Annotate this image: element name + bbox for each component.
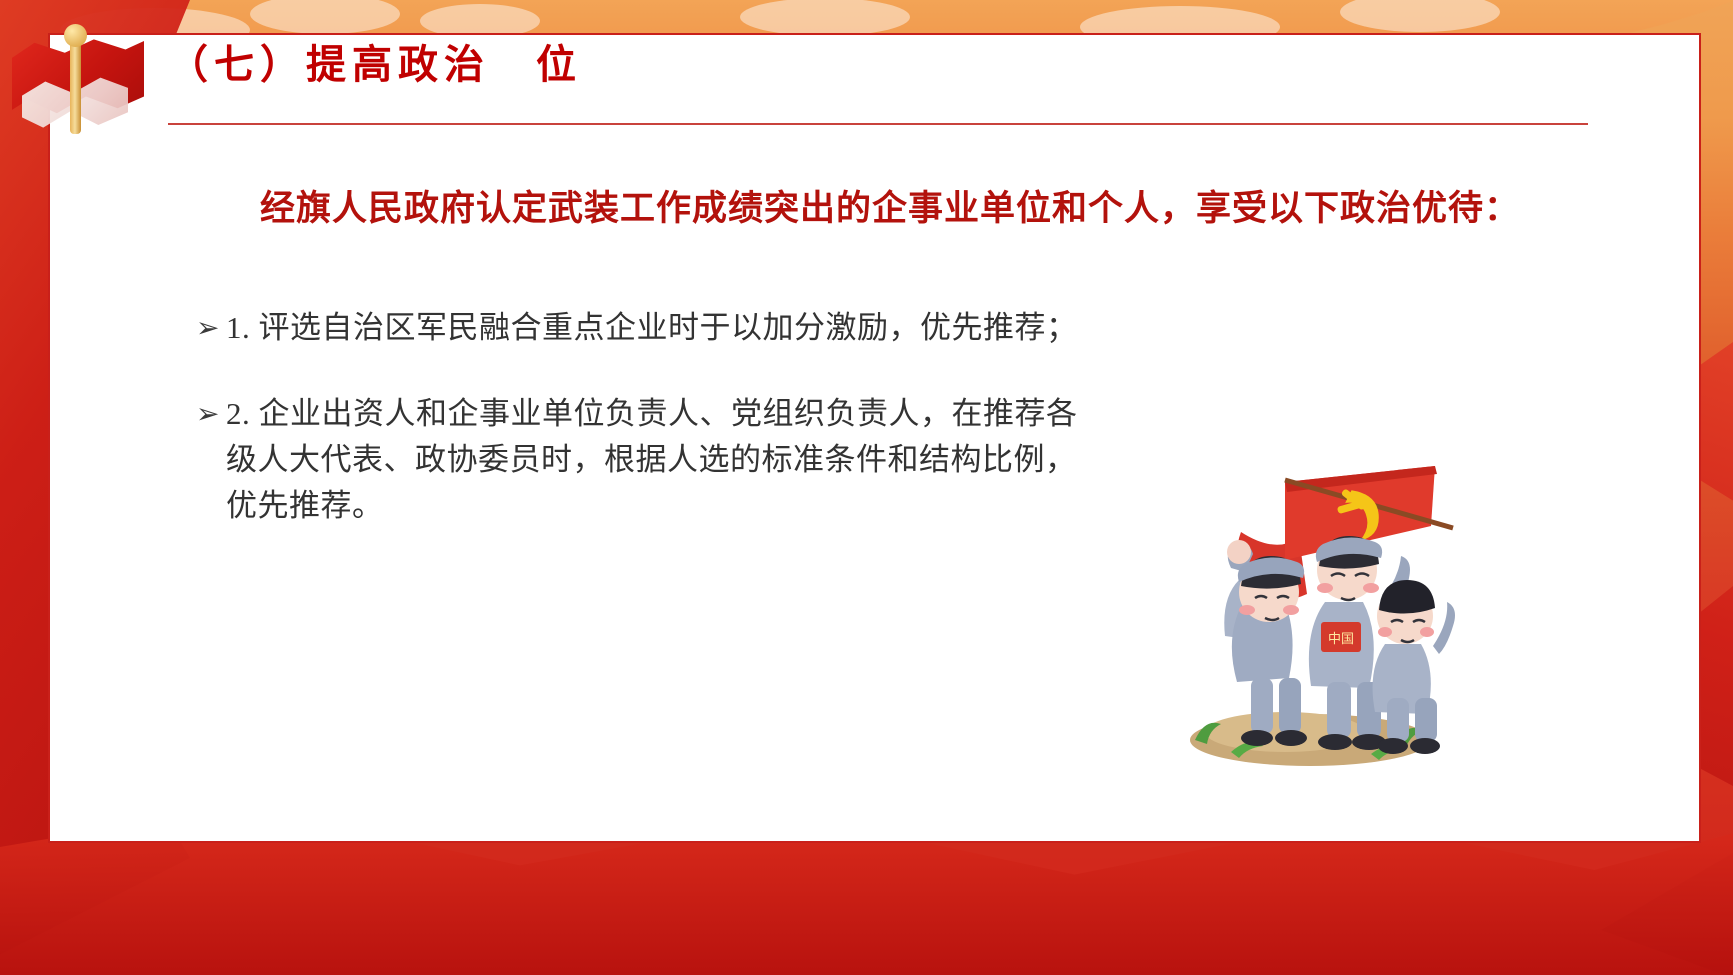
page-title: （七）提高政治 位: [168, 44, 1588, 86]
slide-root: （七）提高政治 位 经旗人民政府认定武装工作成绩突出的企事业单位和个人，享受以下…: [0, 0, 1733, 975]
list-item: ➢ 2. 企业出资人和企事业单位负责人、党组织负责人，在推荐各 级人大代表、政协…: [196, 391, 1156, 529]
flag-finial-icon: [64, 24, 87, 47]
character-left: [1224, 540, 1307, 746]
list-item: ➢ 1. 评选自治区军民融合重点企业时于以加分激励，优先推荐；: [196, 305, 1156, 351]
list-item-text: 1. 评选自治区军民融合重点企业时于以加分激励，优先推荐；: [226, 305, 1078, 351]
arrow-bullet-icon: ➢: [196, 391, 226, 437]
arrow-bullet-icon: ➢: [196, 305, 226, 351]
title-divider: [168, 123, 1588, 125]
list-item-text: 2. 企业出资人和企事业单位负责人、党组织负责人，在推荐各 级人大代表、政协委员…: [226, 391, 1078, 529]
section-heading: 经旗人民政府认定武装工作成绩突出的企事业单位和个人，享受以下政治优待：: [180, 180, 1600, 231]
illustration-red-army-group: 中国: [1135, 440, 1465, 770]
bullet-list: ➢ 1. 评选自治区军民融合重点企业时于以加分激励，优先推荐； ➢ 2. 企业出…: [196, 305, 1156, 569]
page-title-text: （七）提高政治 位: [168, 44, 1588, 86]
svg-text:中国: 中国: [1328, 632, 1354, 647]
red-flag-icon: [8, 22, 148, 140]
